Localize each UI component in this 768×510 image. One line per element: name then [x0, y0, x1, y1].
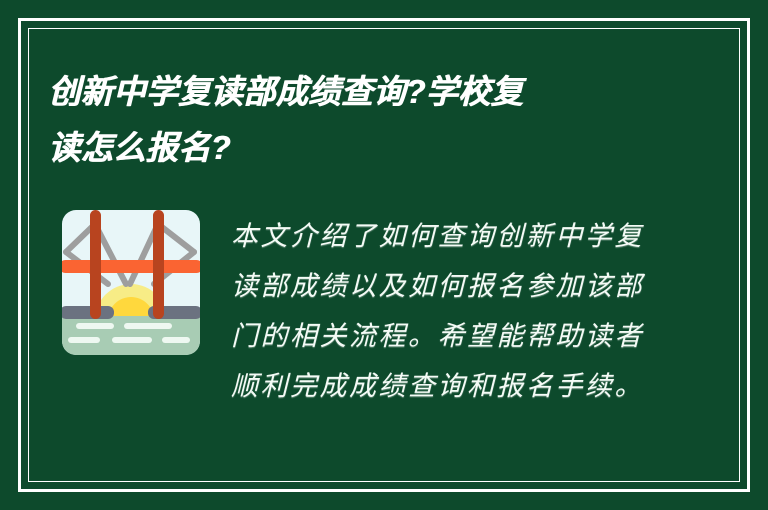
- bridge-deck: [62, 260, 200, 273]
- water-band: [62, 316, 200, 355]
- article-summary-line-1: 本文介绍了如何查询创新中学复: [231, 212, 651, 262]
- page-title-line-2: 读怎么报名?: [48, 120, 630, 176]
- article-summary-line-4: 顺利完成成绩查询和报名手续。: [231, 362, 651, 412]
- article-summary: 本文介绍了如何查询创新中学复 读部成绩以及如何报名参加该部 门的相关流程。希望能…: [231, 212, 651, 412]
- page-title-line-1: 创新中学复读部成绩查询?学校复: [48, 64, 630, 120]
- article-summary-line-3: 门的相关流程。希望能帮助读者: [231, 312, 651, 362]
- page-title: 创新中学复读部成绩查询?学校复 读怎么报名?: [48, 64, 648, 176]
- article-summary-line-2: 读部成绩以及如何报名参加该部: [231, 262, 651, 312]
- poster-canvas: 创新中学复读部成绩查询?学校复 读怎么报名?: [0, 0, 768, 510]
- suspension-bridge-sunset-icon: [62, 210, 200, 355]
